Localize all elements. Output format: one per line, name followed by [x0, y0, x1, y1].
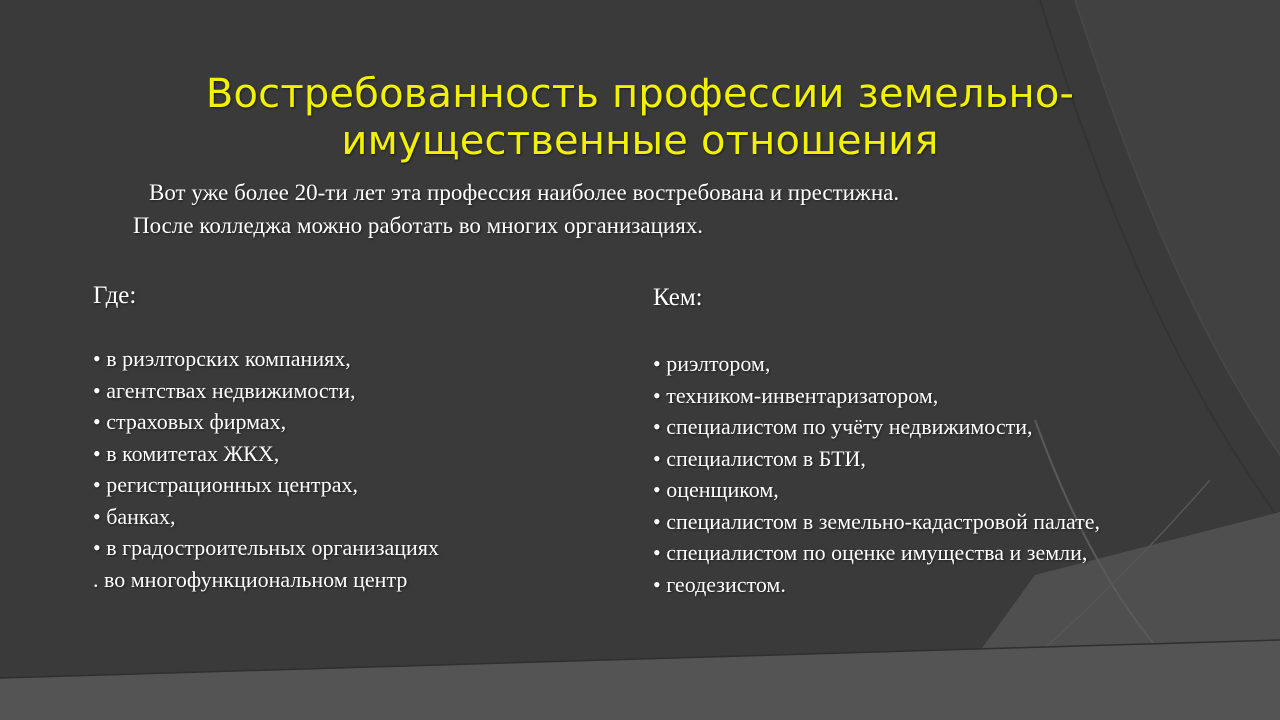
list-item: • техником-инвентаризатором, — [653, 380, 1253, 412]
bottom-band-edge — [0, 640, 1280, 678]
list-item: • специалистом в БТИ, — [653, 443, 1253, 475]
list-item: • специалистом по оценке имущества и зем… — [653, 537, 1253, 569]
column-where-heading: Где: — [93, 281, 136, 311]
list-item: • в градостроительных организациях — [93, 532, 638, 564]
list-item: • специалистом в земельно-кадастровой па… — [653, 506, 1253, 538]
presentation-slide: Востребованность профессии земельно-имущ… — [0, 0, 1280, 720]
list-item: • регистрационных центрах, — [93, 469, 638, 501]
intro-line-1: Вот уже более 20-ти лет эта профессия на… — [149, 180, 899, 205]
list-item: • оценщиком, — [653, 474, 1253, 506]
column-who-heading: Кем: — [653, 283, 703, 313]
list-item: • специалистом по учёту недвижимости, — [653, 411, 1253, 443]
list-item: • в комитетах ЖКХ, — [93, 438, 638, 470]
column-who-list: • риэлтором, • техником-инвентаризатором… — [653, 348, 1253, 600]
intro-paragraph: Вот уже более 20-ти лет эта профессия на… — [133, 176, 1093, 242]
list-item: • агентствах недвижимости, — [93, 375, 638, 407]
slide-title: Востребованность профессии земельно-имущ… — [90, 71, 1190, 165]
list-item: • геодезистом. — [653, 569, 1253, 601]
intro-line-2: После колледжа можно работать во многих … — [133, 209, 1093, 242]
list-item: • в риэлторских компаниях, — [93, 343, 638, 375]
list-item: • страховых фирмах, — [93, 406, 638, 438]
list-item: • банках, — [93, 501, 638, 533]
list-item: . во многофункциональном центр — [93, 564, 638, 596]
column-where-list: • в риэлторских компаниях, • агентствах … — [93, 343, 638, 595]
list-item: • риэлтором, — [653, 348, 1253, 380]
bottom-band — [0, 640, 1280, 720]
